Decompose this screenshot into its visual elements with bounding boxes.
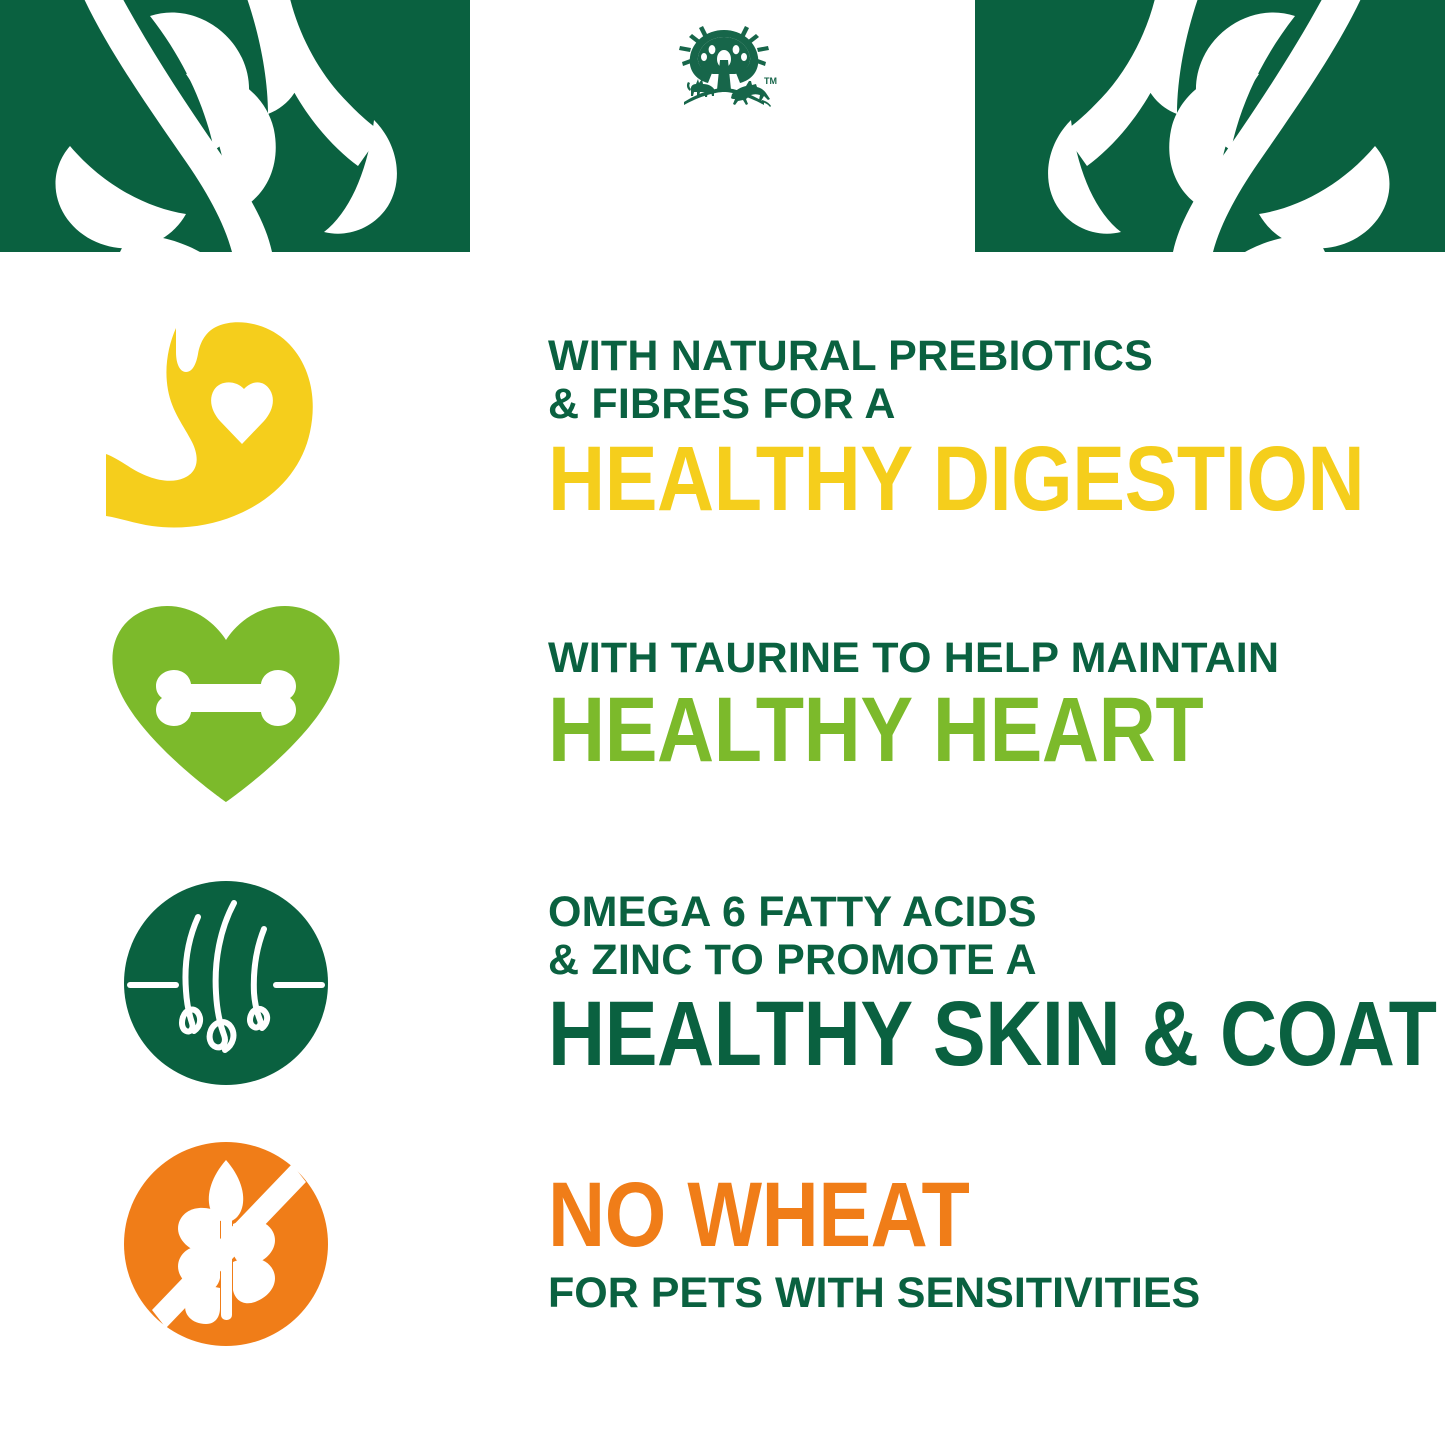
heart-with-bone-icon (111, 606, 341, 802)
benefit-eyebrow-line2-skin-coat: & ZINC TO PROMOTE A (548, 936, 1037, 984)
benefit-subline-no-wheat: FOR PETS WITH SENSITIVITIES (548, 1269, 1445, 1317)
benefit-text-cell-digestion: WITH NATURAL PREBIOTICS & FIBRES FOR A H… (548, 332, 1445, 523)
benefit-eyebrow-line1-digestion: WITH NATURAL PREBIOTICS (548, 332, 1153, 380)
benefit-headline-heart: HEALTHY HEART (548, 686, 1319, 774)
brand-logo: TM (668, 26, 780, 108)
no-wheat-crossed-out-icon (124, 1142, 328, 1346)
benefit-row-no-wheat: NO WHEAT FOR PETS WITH SENSITIVITIES (0, 1128, 1445, 1360)
benefit-text-cell-skin-coat: OMEGA 6 FATTY ACIDS & ZINC TO PROMOTE A … (548, 888, 1445, 1079)
hair-follicles-skin-icon (124, 881, 328, 1085)
benefit-eyebrow-skin-coat: OMEGA 6 FATTY ACIDS & ZINC TO PROMOTE A (548, 888, 1445, 984)
trademark-symbol: TM (764, 76, 777, 86)
benefit-icon-cell-no-wheat (0, 1142, 548, 1346)
benefits-list: WITH NATURAL PREBIOTICS & FIBRES FOR A H… (0, 285, 1445, 1360)
benefit-row-skin-coat: OMEGA 6 FATTY ACIDS & ZINC TO PROMOTE A … (0, 838, 1445, 1128)
benefit-text-cell-heart: WITH TAURINE TO HELP MAINTAIN HEALTHY HE… (548, 634, 1445, 774)
benefit-icon-cell-skin-coat (0, 881, 548, 1085)
benefit-row-heart: WITH TAURINE TO HELP MAINTAIN HEALTHY HE… (0, 570, 1445, 838)
benefit-icon-cell-digestion (0, 320, 548, 535)
benefit-icon-cell-heart (0, 606, 548, 802)
benefit-headline-skin-coat: HEALTHY SKIN & COAT (548, 990, 1437, 1078)
benefit-row-digestion: WITH NATURAL PREBIOTICS & FIBRES FOR A H… (0, 285, 1445, 570)
benefit-headline-digestion: HEALTHY DIGESTION (548, 435, 1364, 523)
benefit-headline-no-wheat: NO WHEAT (548, 1171, 1319, 1259)
benefit-eyebrow-line1-skin-coat: OMEGA 6 FATTY ACIDS (548, 888, 1037, 936)
benefit-eyebrow-line2-digestion: & FIBRES FOR A (548, 380, 896, 428)
header-band: TM (0, 0, 1445, 252)
benefit-text-cell-no-wheat: NO WHEAT FOR PETS WITH SENSITIVITIES (548, 1171, 1445, 1317)
benefit-eyebrow-digestion: WITH NATURAL PREBIOTICS & FIBRES FOR A (548, 332, 1445, 428)
benefit-eyebrow-heart: WITH TAURINE TO HELP MAINTAIN (548, 634, 1445, 682)
stomach-with-heart-icon (106, 320, 346, 535)
